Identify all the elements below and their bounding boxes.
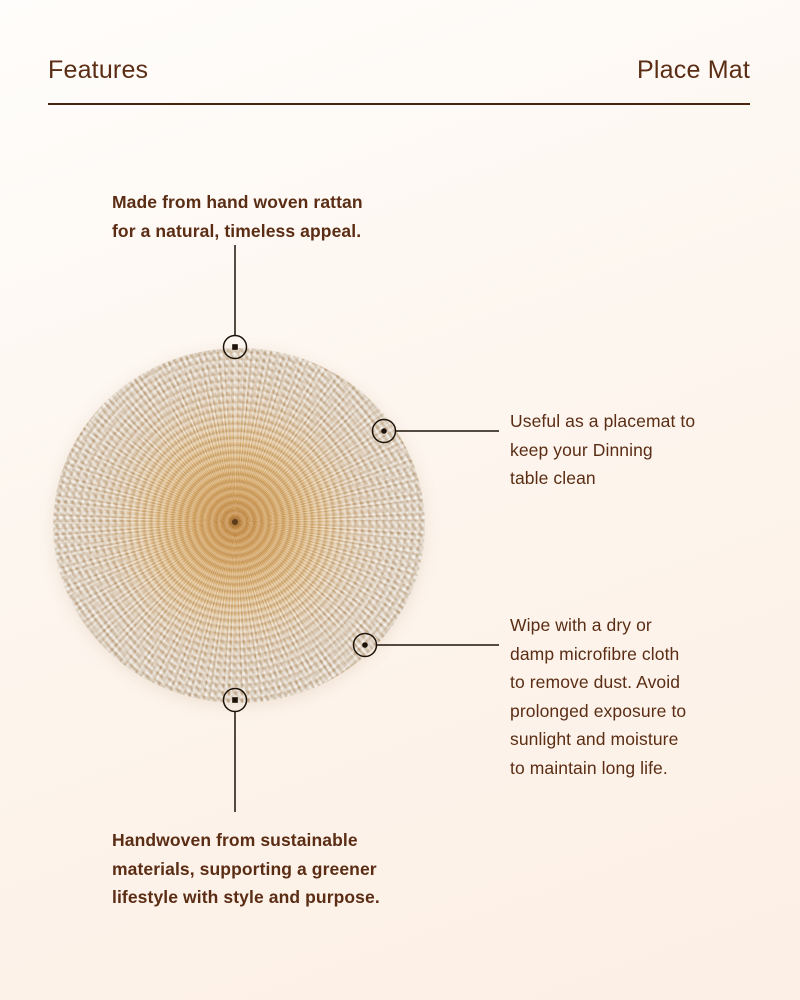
callout-4-line-3: lifestyle with style and purpose. [112, 883, 452, 912]
page-title-features: Features [48, 58, 148, 83]
rattan-rim-vignette [53, 348, 425, 703]
callout-3-line-5: sunlight and moisture [510, 725, 770, 754]
callout-3-line-4: prolonged exposure to [510, 697, 770, 726]
callout-3-line-2: damp microfibre cloth [510, 640, 770, 669]
callout-3-line-6: to maintain long life. [510, 754, 770, 783]
callout-3-line-3: to remove dust. Avoid [510, 668, 770, 697]
callout-3-line-1: Wipe with a dry or [510, 611, 770, 640]
callout-1-line-1: Made from hand woven rattan [112, 188, 442, 217]
callout-2-line-1: Useful as a placemat to [510, 407, 770, 436]
callout-2-line-3: table clean [510, 464, 770, 493]
callout-2-line-2: keep your Dinning [510, 436, 770, 465]
page-header: Features Place Mat [48, 58, 750, 110]
product-name-title: Place Mat [637, 58, 750, 83]
rattan-placemat-disc [53, 348, 425, 703]
callout-text-4: Handwoven from sustainable materials, su… [112, 826, 452, 912]
callout-text-3: Wipe with a dry or damp microfibre cloth… [510, 611, 770, 783]
product-image-rattan-placemat [53, 348, 425, 703]
callout-4-line-1: Handwoven from sustainable [112, 826, 452, 855]
header-titles-row: Features Place Mat [48, 58, 750, 102]
callout-text-2: Useful as a placemat to keep your Dinnin… [510, 407, 770, 493]
callout-4-line-2: materials, supporting a greener [112, 855, 452, 884]
header-divider-rule [48, 103, 750, 105]
feature-infographic-page: Features Place Mat [0, 0, 800, 1000]
callout-text-1: Made from hand woven rattan for a natura… [112, 188, 442, 245]
callout-1-line-2: for a natural, timeless appeal. [112, 217, 442, 246]
